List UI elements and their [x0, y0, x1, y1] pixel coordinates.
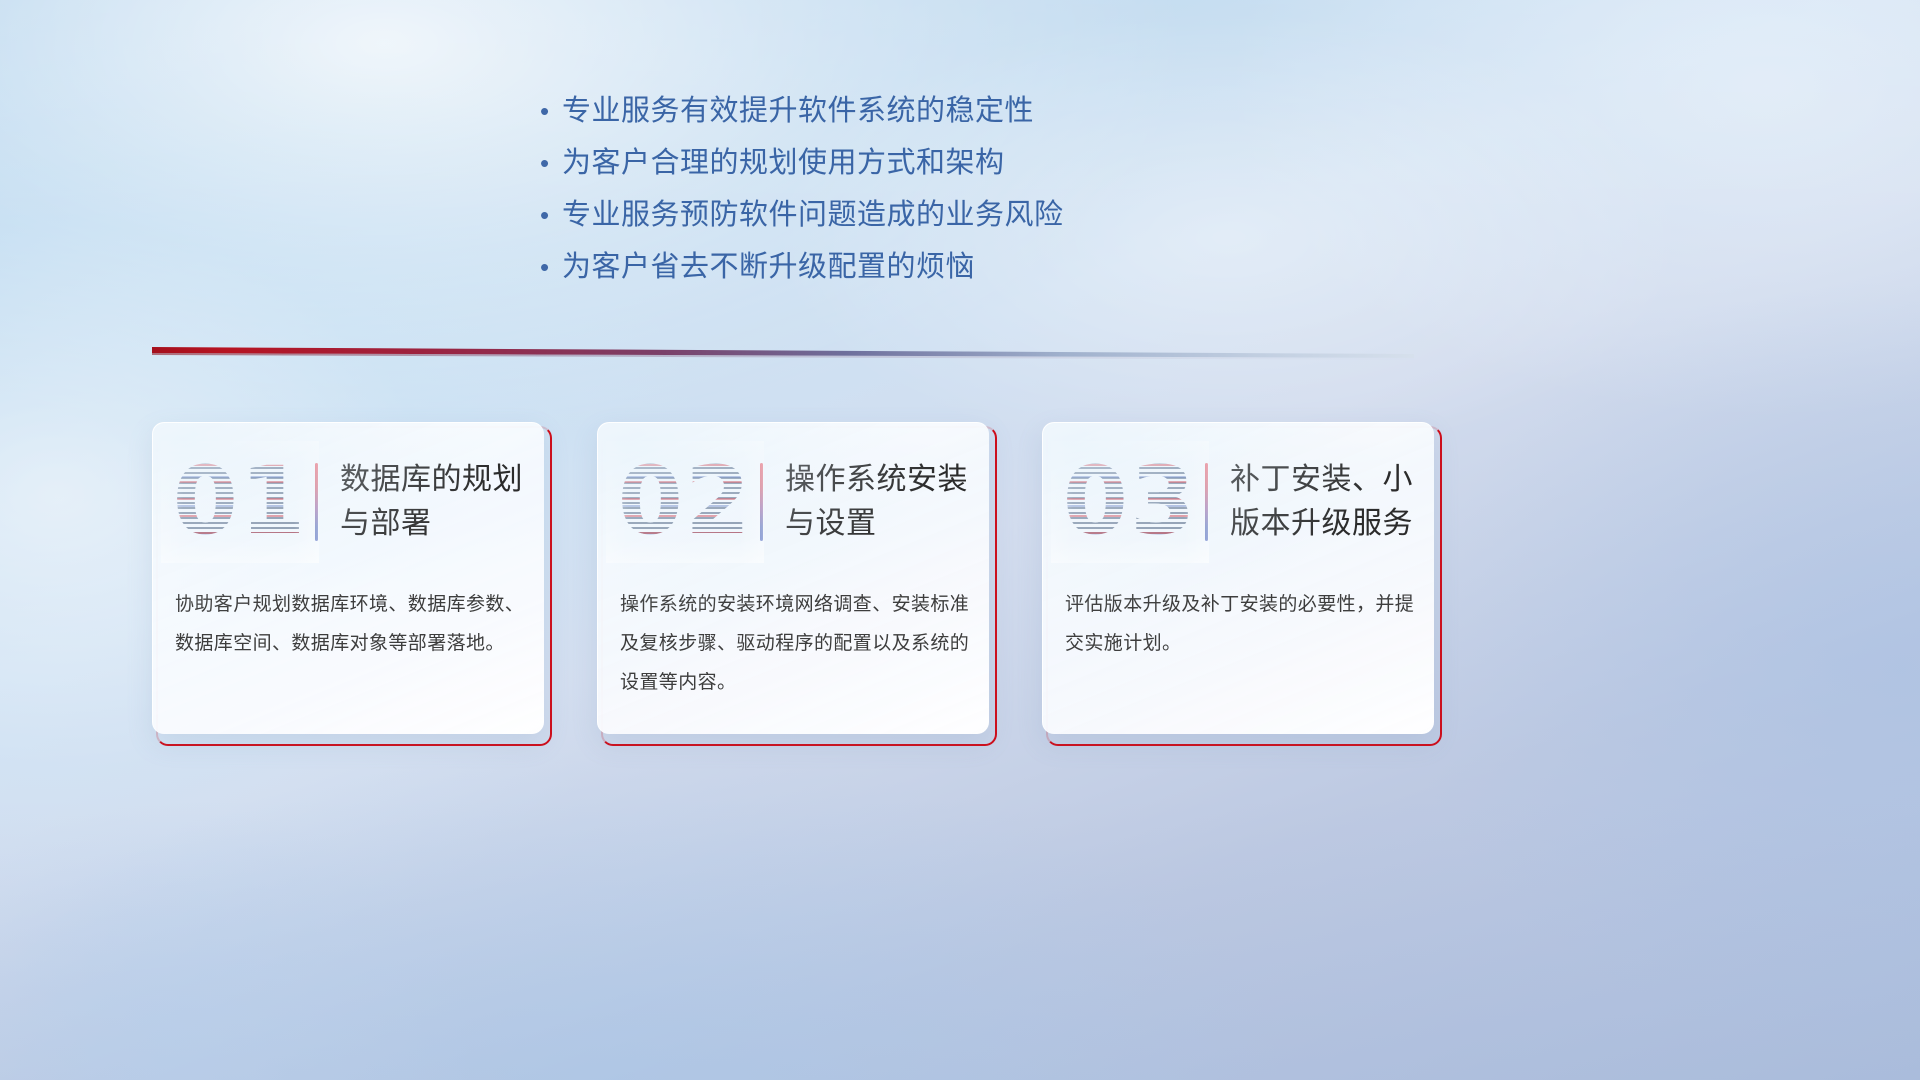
card-number-glyph-blue: 01: [171, 447, 309, 557]
card-number-glyph-blue: 03: [1061, 447, 1199, 557]
card-description: 协助客户规划数据库环境、数据库参数、数据库空间、数据库对象等部署落地。: [175, 585, 527, 663]
bullet-text: 为客户省去不断升级配置的烦恼: [562, 246, 975, 288]
card-divider-rule: [315, 463, 318, 541]
bullet-dot-icon: •: [540, 246, 562, 288]
card-header: 02 02 02 操作系统安装与设置: [598, 439, 989, 565]
card-surface: 03 03 03 补丁安装、小版本升级服务 评估版本升级及补丁安装的必要性，并提…: [1042, 422, 1434, 734]
bullet-text: 专业服务有效提升软件系统的稳定性: [562, 90, 1034, 132]
bullet-dot-icon: •: [540, 194, 562, 236]
card-title: 补丁安装、小版本升级服务: [1230, 458, 1434, 546]
bullet-text: 专业服务预防软件问题造成的业务风险: [562, 194, 1064, 236]
list-item: • 专业服务有效提升软件系统的稳定性: [540, 90, 1440, 142]
card-divider-rule: [1205, 463, 1208, 541]
card-surface: 01 01 01 数据库的规划与部署 协助客户规划数据库环境、数据库参数、数据库…: [152, 422, 544, 734]
service-card[interactable]: 03 03 03 补丁安装、小版本升级服务 评估版本升级及补丁安装的必要性，并提…: [1042, 422, 1438, 742]
card-number-badge: 03 03 03: [1061, 447, 1199, 557]
card-surface: 02 02 02 操作系统安装与设置 操作系统的安装环境网络调查、安装标准及复核…: [597, 422, 989, 734]
card-title: 数据库的规划与部署: [340, 458, 544, 546]
card-number-glyph-blue: 02: [616, 447, 754, 557]
benefits-bullet-list: • 专业服务有效提升软件系统的稳定性 • 为客户合理的规划使用方式和架构 • 专…: [540, 90, 1440, 298]
divider-shape-icon: [152, 344, 1414, 362]
service-card[interactable]: 01 01 01 数据库的规划与部署 协助客户规划数据库环境、数据库参数、数据库…: [152, 422, 548, 742]
card-description: 评估版本升级及补丁安装的必要性，并提交实施计划。: [1065, 585, 1417, 663]
service-card-row: 01 01 01 数据库的规划与部署 协助客户规划数据库环境、数据库参数、数据库…: [0, 422, 1920, 752]
list-item: • 为客户合理的规划使用方式和架构: [540, 142, 1440, 194]
card-title: 操作系统安装与设置: [785, 458, 989, 546]
bullet-text: 为客户合理的规划使用方式和架构: [562, 142, 1005, 184]
card-description: 操作系统的安装环境网络调查、安装标准及复核步骤、驱动程序的配置以及系统的设置等内…: [620, 585, 972, 702]
service-card[interactable]: 02 02 02 操作系统安装与设置 操作系统的安装环境网络调查、安装标准及复核…: [597, 422, 993, 742]
bullet-dot-icon: •: [540, 142, 562, 184]
card-number-badge: 01 01 01: [171, 447, 309, 557]
bullet-dot-icon: •: [540, 90, 562, 132]
card-number-badge: 02 02 02: [616, 447, 754, 557]
section-divider: [152, 344, 1414, 362]
card-divider-rule: [760, 463, 763, 541]
list-item: • 专业服务预防软件问题造成的业务风险: [540, 194, 1440, 246]
list-item: • 为客户省去不断升级配置的烦恼: [540, 246, 1440, 298]
card-header: 03 03 03 补丁安装、小版本升级服务: [1043, 439, 1434, 565]
card-header: 01 01 01 数据库的规划与部署: [153, 439, 544, 565]
